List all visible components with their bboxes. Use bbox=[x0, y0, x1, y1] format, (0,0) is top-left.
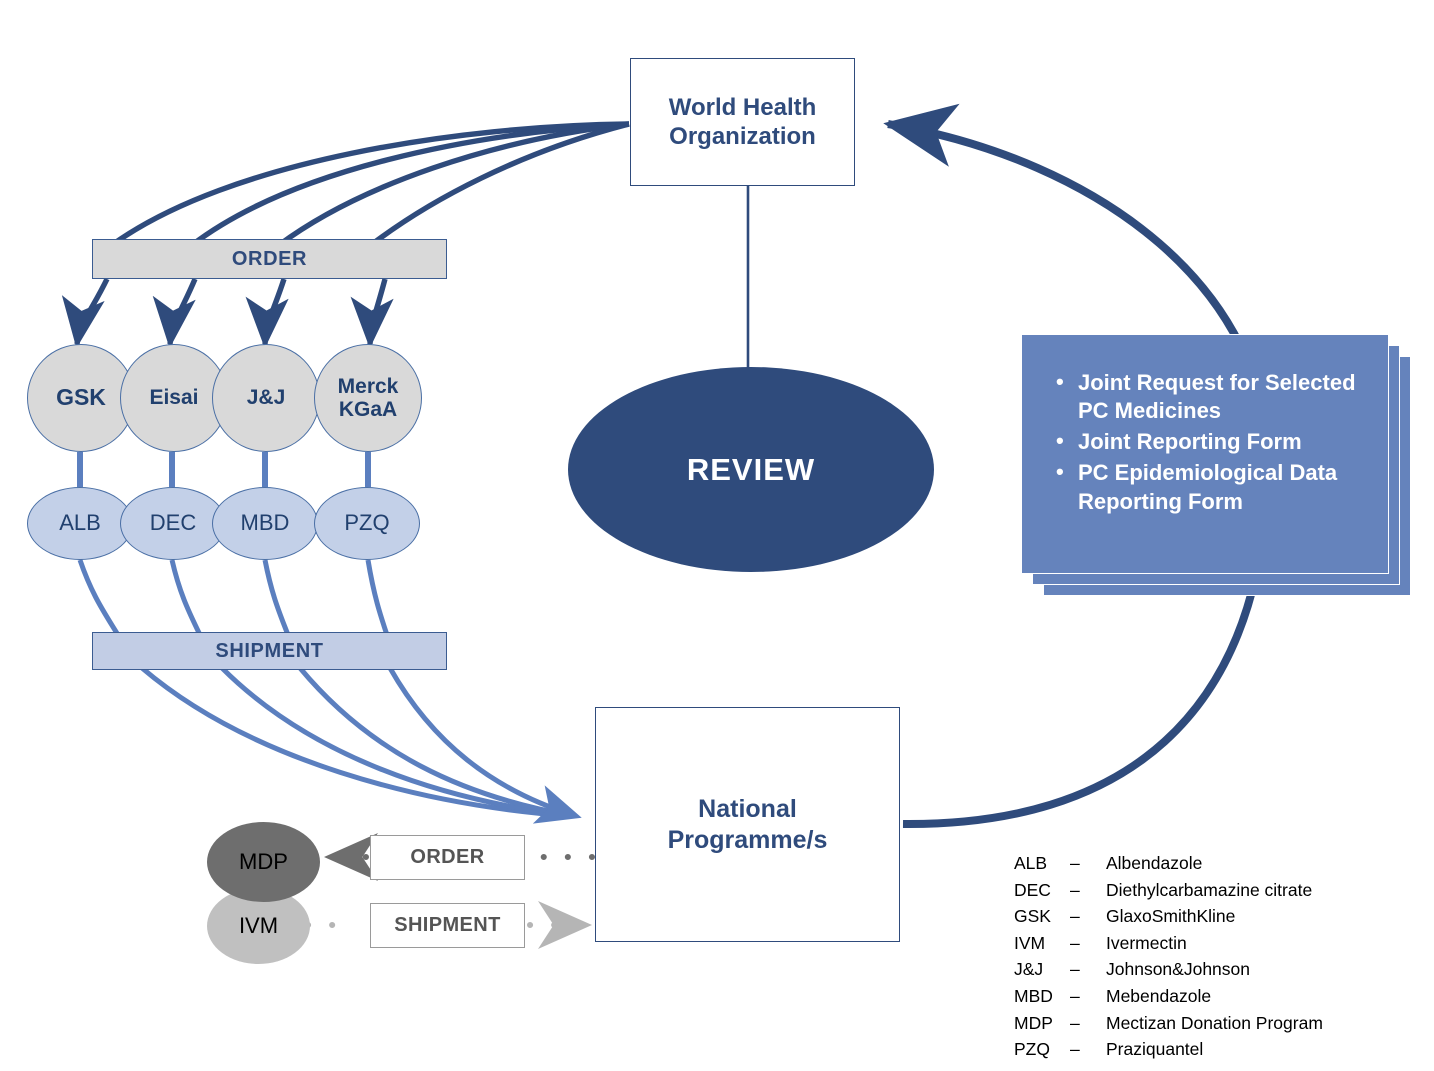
legend-row: J&J – Johnson&Johnson bbox=[1014, 956, 1323, 983]
ivm-label: IVM bbox=[239, 914, 278, 938]
document-item: Joint Reporting Form bbox=[1078, 428, 1366, 456]
document-card-front[interactable]: Joint Request for Selected PC Medicines … bbox=[1021, 334, 1389, 574]
drug-label: ALB bbox=[59, 511, 101, 535]
document-item: Joint Request for Selected PC Medicines bbox=[1078, 369, 1366, 425]
legend-abbr: GSK bbox=[1014, 903, 1070, 930]
who-label-line1: World Health bbox=[669, 93, 817, 122]
order-band[interactable]: ORDER bbox=[92, 239, 447, 279]
legend-full: Mebendazole bbox=[1106, 983, 1323, 1010]
legend-full: Ivermectin bbox=[1106, 930, 1323, 957]
donation-shipment-label: SHIPMENT bbox=[394, 914, 501, 937]
company-circle-jnj[interactable]: J&J bbox=[212, 344, 320, 452]
company-label: J&J bbox=[247, 386, 286, 409]
legend-full: Diethylcarbamazine citrate bbox=[1106, 877, 1323, 904]
legend-row: DEC – Diethylcarbamazine citrate bbox=[1014, 877, 1323, 904]
legend-row: MBD – Mebendazole bbox=[1014, 983, 1323, 1010]
legend-full: Albendazole bbox=[1106, 850, 1323, 877]
donation-order-label-box[interactable]: ORDER bbox=[370, 835, 525, 880]
order-to-companies-arrows bbox=[77, 279, 385, 344]
shipment-to-national-curves bbox=[142, 668, 576, 816]
legend-full: Mectizan Donation Program bbox=[1106, 1010, 1323, 1037]
document-item: PC Epidemiological Data Reporting Form bbox=[1078, 459, 1366, 515]
drug-label: PZQ bbox=[344, 511, 389, 535]
legend-abbr: PZQ bbox=[1014, 1036, 1070, 1063]
legend-row: IVM – Ivermectin bbox=[1014, 930, 1323, 957]
legend-full: Johnson&Johnson bbox=[1106, 956, 1323, 983]
legend-full: GlaxoSmithKline bbox=[1106, 903, 1323, 930]
mdp-label: MDP bbox=[239, 850, 288, 874]
company-label-line1: Merck bbox=[338, 375, 399, 398]
drug-circle-pzq[interactable]: PZQ bbox=[314, 487, 420, 560]
legend-abbr: ALB bbox=[1014, 850, 1070, 877]
donation-shipment-label-box[interactable]: SHIPMENT bbox=[370, 903, 525, 948]
diagram-canvas: World Health Organization ORDER GSK Eisa… bbox=[0, 0, 1434, 1071]
legend-dash: – bbox=[1070, 877, 1106, 904]
company-label: GSK bbox=[56, 385, 106, 410]
drugs-to-shipment-curves bbox=[80, 560, 387, 635]
company-circle-merck[interactable]: Merck KGaA bbox=[314, 344, 422, 452]
shipment-band[interactable]: SHIPMENT bbox=[92, 632, 447, 670]
who-box[interactable]: World Health Organization bbox=[630, 58, 855, 186]
legend-row: ALB – Albendazole bbox=[1014, 850, 1323, 877]
legend-abbr: MBD bbox=[1014, 983, 1070, 1010]
donation-order-label: ORDER bbox=[410, 846, 484, 869]
legend-dash: – bbox=[1070, 1010, 1106, 1037]
documents-card-stack[interactable]: Joint Request for Selected PC Medicines … bbox=[1021, 334, 1411, 596]
drug-circle-mbd[interactable]: MBD bbox=[212, 487, 318, 560]
company-drug-links bbox=[80, 452, 368, 487]
shipment-band-label: SHIPMENT bbox=[215, 640, 323, 663]
legend-abbr: IVM bbox=[1014, 930, 1070, 957]
legend-full: Praziquantel bbox=[1106, 1036, 1323, 1063]
who-to-order-curves bbox=[112, 124, 629, 245]
abbreviation-legend: ALB – Albendazole DEC – Diethylcarbamazi… bbox=[1014, 850, 1323, 1063]
legend-dash: – bbox=[1070, 850, 1106, 877]
company-label-line2: KGaA bbox=[338, 398, 399, 421]
legend-abbr: MDP bbox=[1014, 1010, 1070, 1037]
legend-dash: – bbox=[1070, 1036, 1106, 1063]
drug-label: MBD bbox=[241, 511, 290, 535]
company-circle-gsk[interactable]: GSK bbox=[27, 344, 135, 452]
legend-abbr: DEC bbox=[1014, 877, 1070, 904]
order-band-label: ORDER bbox=[232, 248, 307, 271]
legend-row: PZQ – Praziquantel bbox=[1014, 1036, 1323, 1063]
who-label-line2: Organization bbox=[669, 122, 817, 151]
national-programmes-box[interactable]: National Programme/s bbox=[595, 707, 900, 942]
legend-abbr: J&J bbox=[1014, 956, 1070, 983]
drug-label: DEC bbox=[150, 511, 196, 535]
mdp-circle[interactable]: MDP bbox=[207, 822, 320, 902]
legend-dash: – bbox=[1070, 956, 1106, 983]
national-label-line1: National bbox=[668, 794, 828, 825]
national-label-line2: Programme/s bbox=[668, 825, 828, 856]
legend-dash: – bbox=[1070, 903, 1106, 930]
drug-circle-alb[interactable]: ALB bbox=[27, 487, 133, 560]
review-label: REVIEW bbox=[687, 452, 815, 488]
legend-dash: – bbox=[1070, 983, 1106, 1010]
company-label: Eisai bbox=[149, 386, 198, 409]
drug-circle-dec[interactable]: DEC bbox=[120, 487, 226, 560]
legend-row: MDP – Mectizan Donation Program bbox=[1014, 1010, 1323, 1037]
review-ellipse[interactable]: REVIEW bbox=[568, 367, 934, 572]
legend-row: GSK – GlaxoSmithKline bbox=[1014, 903, 1323, 930]
legend-dash: – bbox=[1070, 930, 1106, 957]
